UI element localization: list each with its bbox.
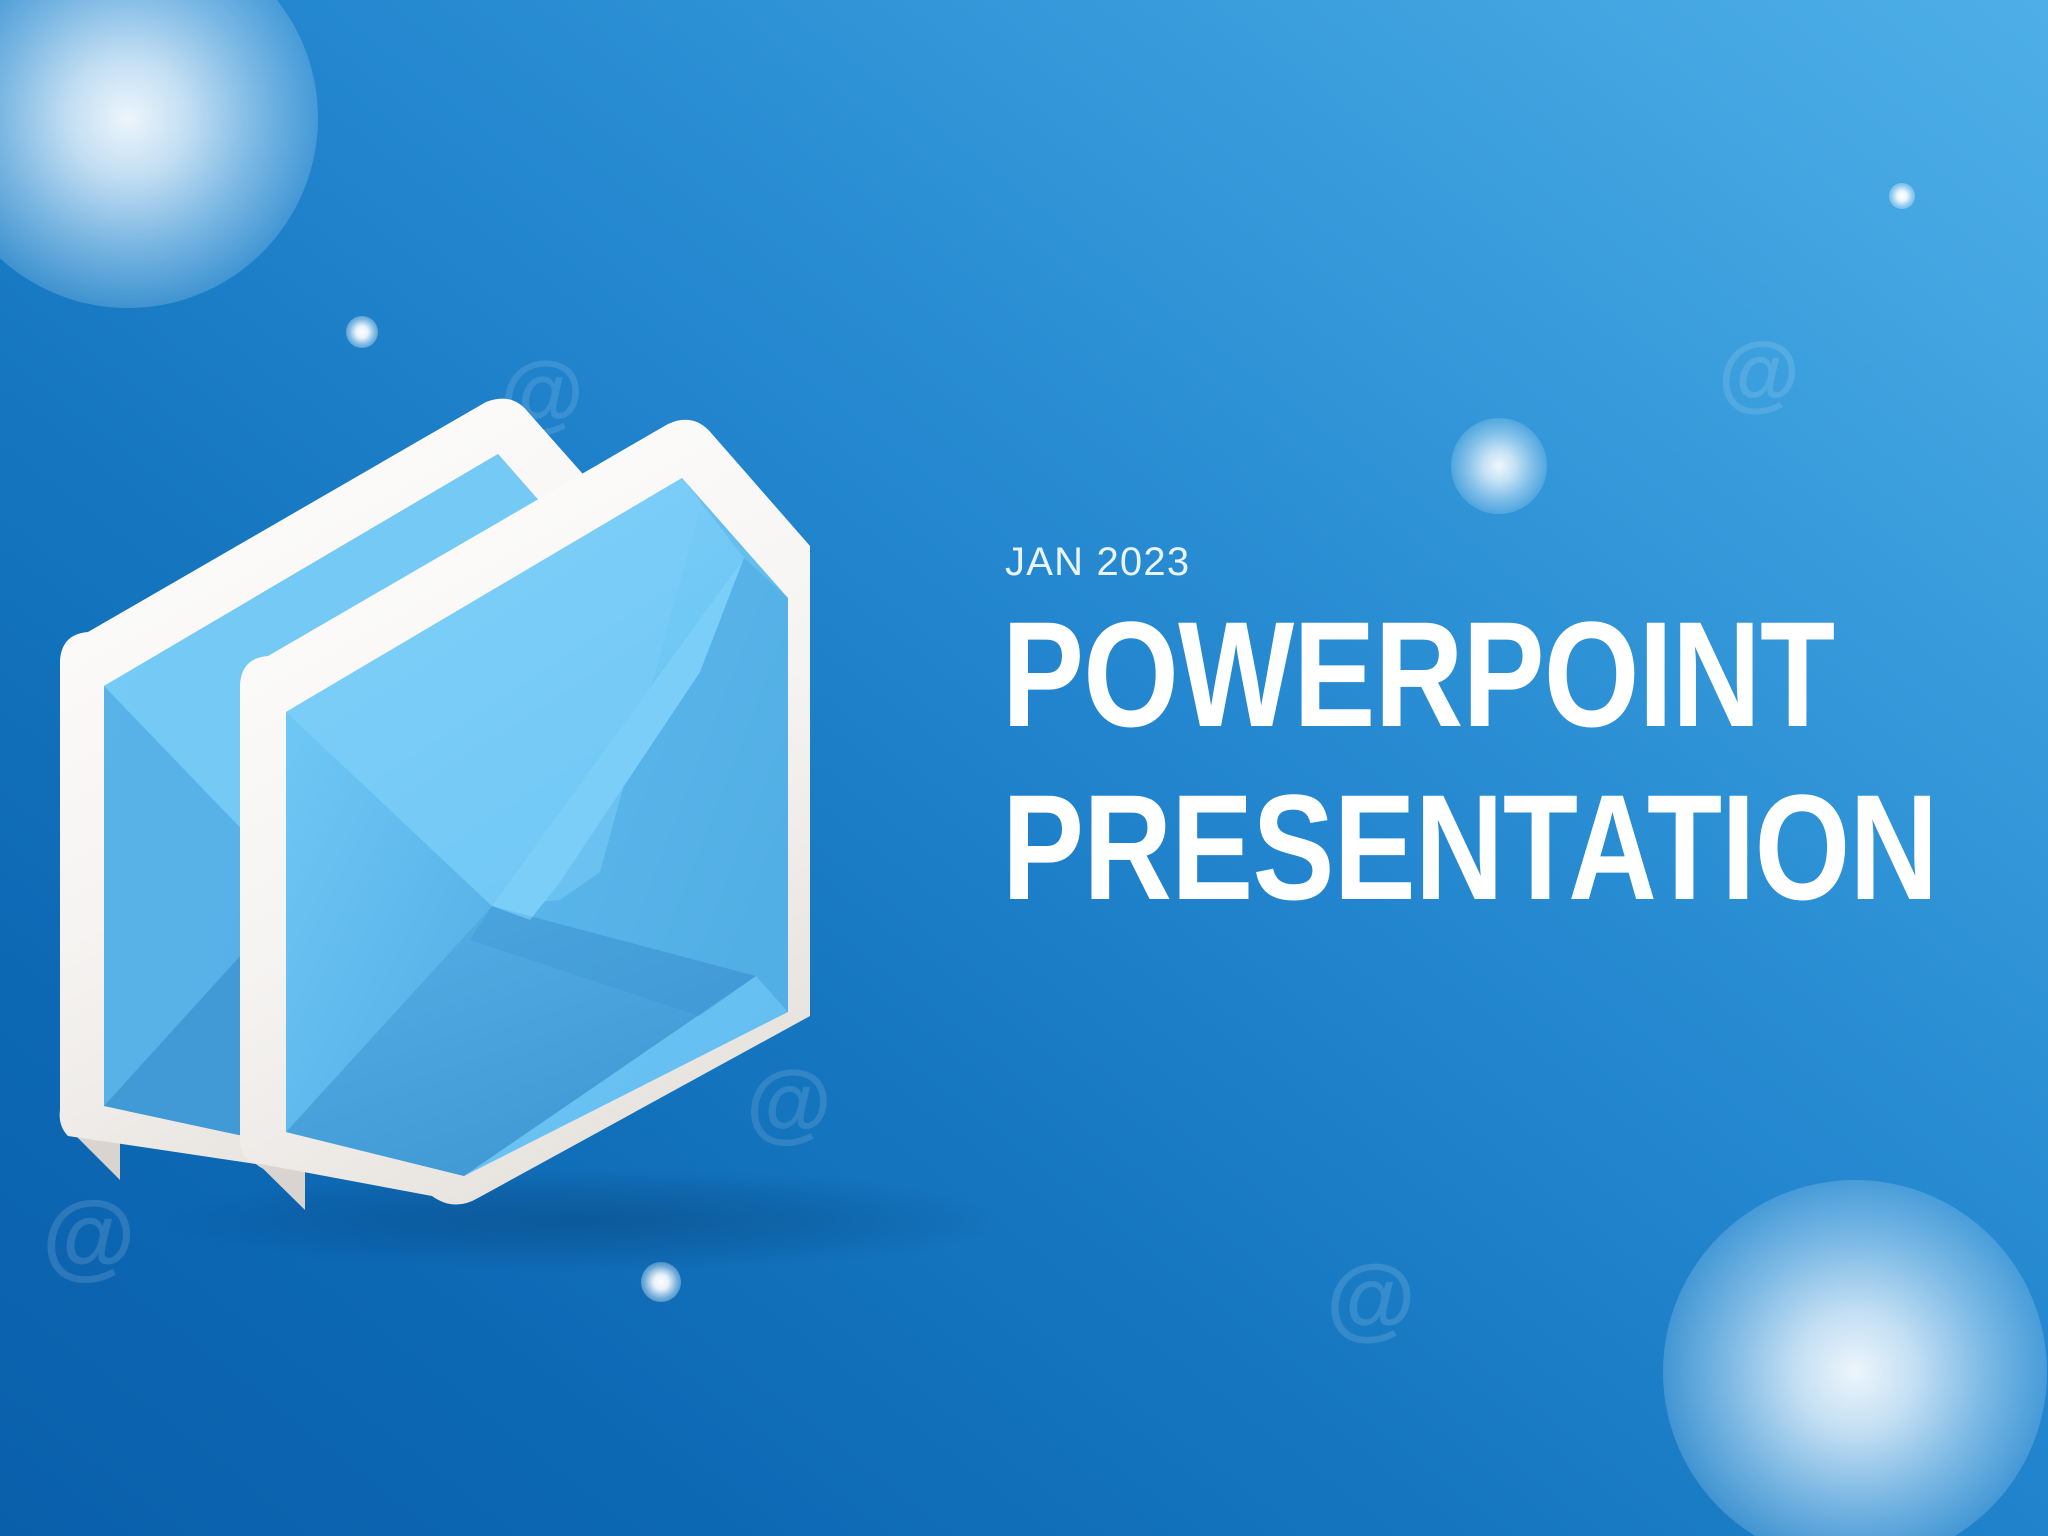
bokeh-circle-bottom-right	[1663, 1180, 2047, 1536]
title-text-block: JAN 2023 POWERPOINT PRESENTATION	[1002, 540, 2022, 921]
bokeh-circle-mid-right	[1451, 418, 1547, 514]
at-symbol-icon: @	[1718, 330, 1800, 414]
glow-dot-top-right	[1889, 183, 1915, 209]
stacked-envelopes-graphic	[0, 420, 1000, 1260]
presentation-slide: @ @ @ @ @ @	[0, 0, 2048, 1536]
bokeh-circle-top-left	[0, 0, 318, 308]
glow-dot-upper-left	[346, 316, 378, 348]
date-eyebrow: JAN 2023	[1005, 540, 2022, 585]
page-title-line-2: PRESENTATION	[1002, 774, 1838, 921]
at-symbol-icon: @	[1326, 1252, 1416, 1344]
page-title-line-1: POWERPOINT	[1002, 601, 1838, 748]
